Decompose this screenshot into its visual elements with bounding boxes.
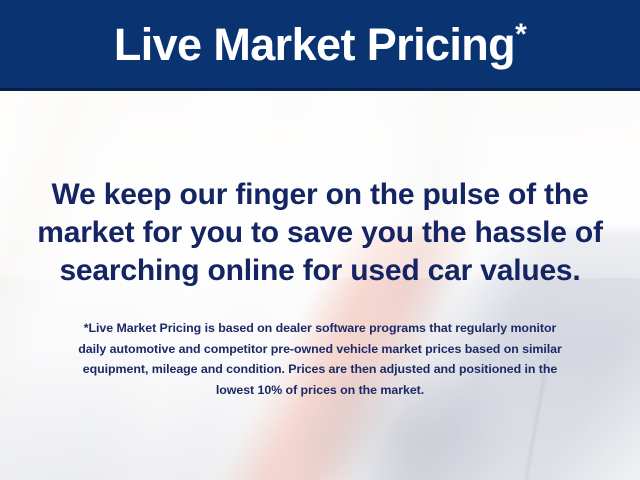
live-market-pricing-banner: Live Market Pricing* We keep our finger … — [0, 0, 640, 480]
header-banner: Live Market Pricing* — [0, 0, 640, 91]
headline-line-2: market for you to save you the hassle of — [22, 214, 618, 252]
disclaimer-line-1: *Live Market Pricing is based on dealer … — [26, 318, 614, 339]
headline-line-3: searching online for used car values. — [22, 252, 618, 290]
page-title: Live Market Pricing* — [114, 22, 526, 69]
headline-line-1: We keep our finger on the pulse of the — [22, 176, 618, 214]
headline-block: We keep our finger on the pulse of the m… — [0, 176, 640, 290]
page-title-text: Live Market Pricing — [114, 19, 515, 70]
disclaimer-line-3: equipment, mileage and condition. Prices… — [26, 359, 614, 380]
disclaimer-line-2: daily automotive and competitor pre-owne… — [26, 339, 614, 360]
page-title-asterisk: * — [515, 18, 526, 51]
disclaimer-line-4: lowest 10% of prices on the market. — [26, 380, 614, 401]
disclaimer-block: *Live Market Pricing is based on dealer … — [0, 318, 640, 400]
